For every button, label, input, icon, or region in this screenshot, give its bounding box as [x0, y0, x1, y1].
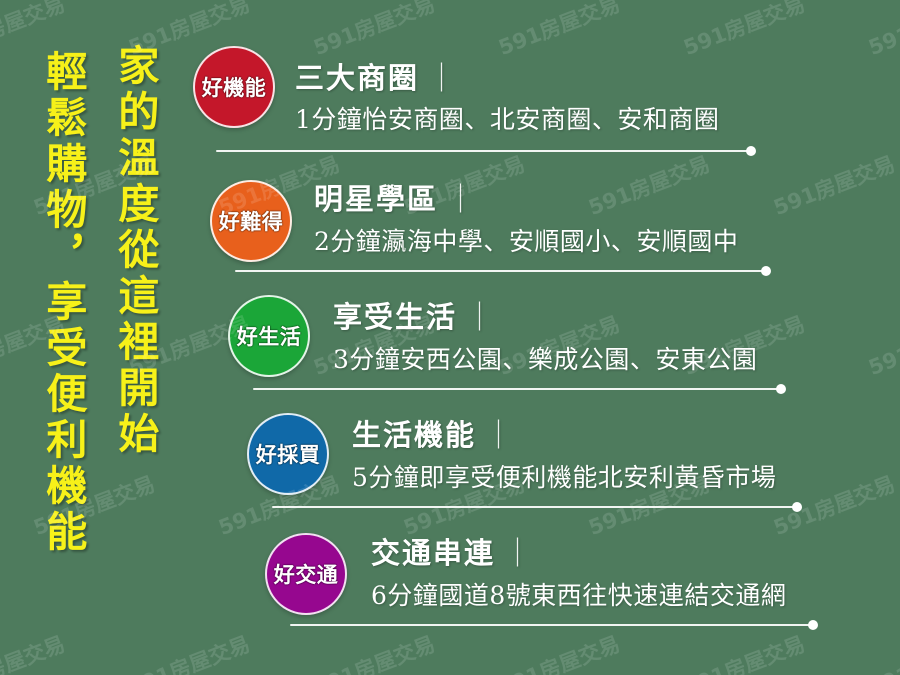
headline-left: 輕鬆購物，享受便利機能 [40, 50, 84, 556]
row-subtitle-4: 5分鐘即享受便利機能北安利黃昏市場 [352, 458, 776, 494]
row-title-3: 享受生活｜ [333, 294, 496, 336]
badge-3: 好生活 [228, 295, 310, 377]
row-end-dot-4 [792, 502, 802, 512]
headline-right: 家的溫度從這裡開始 [112, 44, 156, 458]
row-subtitle-5: 6分鐘國道8號東西往快速連結交通網 [371, 576, 786, 612]
row-divider-2: ｜ [438, 182, 477, 216]
row-divider-1: ｜ [419, 61, 458, 95]
row-title-1: 三大商圈｜ [295, 55, 458, 97]
row-divider-4: ｜ [476, 418, 515, 452]
row-divider-3: ｜ [457, 300, 496, 334]
row-title-text-2: 明星學區 [314, 182, 438, 216]
row-title-5: 交通串連｜ [371, 530, 534, 572]
row-end-dot-1 [746, 146, 756, 156]
row-subtitle-2: 2分鐘瀛海中學、安順國小、安順國中 [314, 222, 738, 258]
row-end-dot-3 [776, 384, 786, 394]
row-divider-line-2 [235, 270, 765, 272]
row-divider-line-1 [216, 150, 750, 152]
row-divider-line-3 [253, 388, 780, 390]
row-subtitle-1: 1分鐘怡安商圈、北安商圈、安和商圈 [295, 100, 719, 136]
row-divider-5: ｜ [495, 536, 534, 570]
row-title-text-1: 三大商圈 [295, 61, 419, 95]
badge-label-1: 好機能 [202, 72, 267, 102]
badge-4: 好採買 [247, 413, 329, 495]
row-title-text-4: 生活機能 [352, 418, 476, 452]
row-title-4: 生活機能｜ [352, 412, 515, 454]
badge-5: 好交通 [265, 533, 347, 615]
badge-label-4: 好採買 [256, 439, 321, 469]
badge-label-5: 好交通 [274, 559, 339, 589]
row-end-dot-2 [761, 266, 771, 276]
row-title-2: 明星學區｜ [314, 176, 477, 218]
row-subtitle-3: 3分鐘安西公園、樂成公園、安東公園 [333, 340, 757, 376]
badge-1: 好機能 [193, 46, 275, 128]
badge-2: 好難得 [210, 180, 292, 262]
row-title-text-5: 交通串連 [371, 536, 495, 570]
row-title-text-3: 享受生活 [333, 300, 457, 334]
poster-stage: 家的溫度從這裡開始 輕鬆購物，享受便利機能 好機能 三大商圈｜ 1分鐘怡安商圈、… [0, 0, 900, 675]
row-end-dot-5 [808, 620, 818, 630]
badge-label-3: 好生活 [237, 321, 302, 351]
row-divider-line-4 [272, 506, 796, 508]
row-divider-line-5 [290, 624, 812, 626]
badge-label-2: 好難得 [219, 206, 284, 236]
